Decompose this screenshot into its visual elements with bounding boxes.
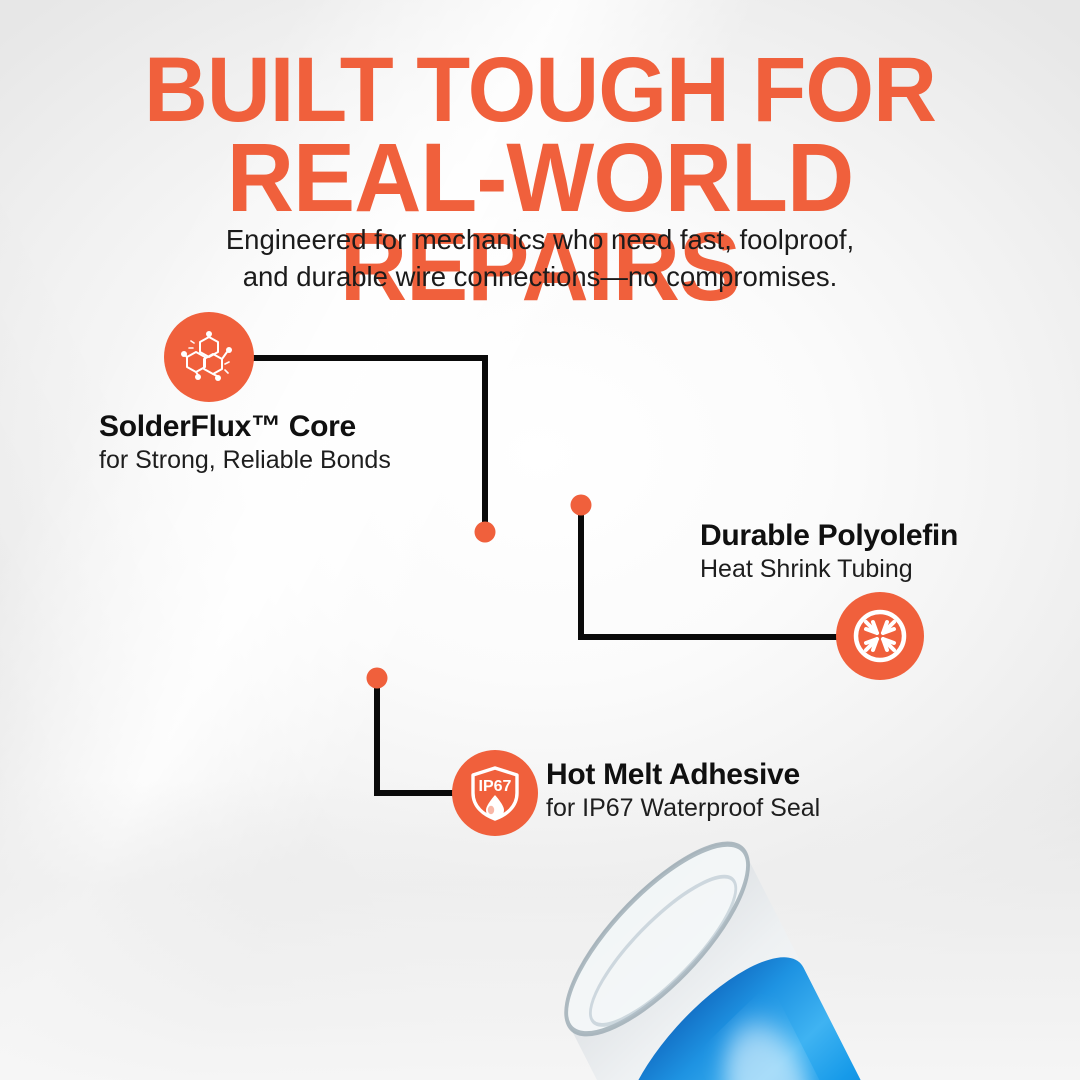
- marker-dot-hotmelt: [367, 668, 388, 689]
- background-floor: [0, 780, 1080, 1080]
- callout-hotmelt: Hot Melt Adhesive for IP67 Waterproof Se…: [546, 758, 820, 823]
- callout-solderflux: SolderFlux™ Core for Strong, Reliable Bo…: [99, 410, 391, 475]
- leader-line-hotmelt: [377, 678, 452, 793]
- subtitle: Engineered for mechanics who need fast, …: [0, 222, 1080, 295]
- callout-title-hotmelt: Hot Melt Adhesive: [546, 758, 820, 793]
- ip67-badge-text: IP67: [479, 778, 512, 795]
- ip67-shield-droplet-icon[interactable]: IP67: [452, 750, 538, 836]
- callout-subtitle-solderflux: for Strong, Reliable Bonds: [99, 445, 391, 475]
- marker-dot-solderflux: [475, 522, 496, 543]
- subtitle-line-1: Engineered for mechanics who need fast, …: [0, 222, 1080, 259]
- blue-adhesive-ring-bottom: [605, 924, 900, 1080]
- callout-title-polyolefin: Durable Polyolefin: [700, 519, 958, 554]
- callout-subtitle-polyolefin: Heat Shrink Tubing: [700, 554, 958, 584]
- marker-dot-polyolefin: [571, 495, 592, 516]
- solder-seal-connector: [547, 810, 1080, 1080]
- molecule-hexagon-icon[interactable]: [164, 312, 254, 402]
- headline-line-1: BUILT TOUGH FOR: [22, 48, 1059, 133]
- shrink-arrows-icon[interactable]: [836, 592, 924, 680]
- subtitle-line-2: and durable wire connections—no compromi…: [0, 259, 1080, 296]
- infographic-canvas: BUILT TOUGH FOR REAL-WORLD REPAIRS Engin…: [0, 0, 1080, 1080]
- callout-polyolefin: Durable Polyolefin Heat Shrink Tubing: [700, 519, 958, 584]
- callout-subtitle-hotmelt: for IP67 Waterproof Seal: [546, 793, 820, 823]
- callout-title-solderflux: SolderFlux™ Core: [99, 410, 391, 445]
